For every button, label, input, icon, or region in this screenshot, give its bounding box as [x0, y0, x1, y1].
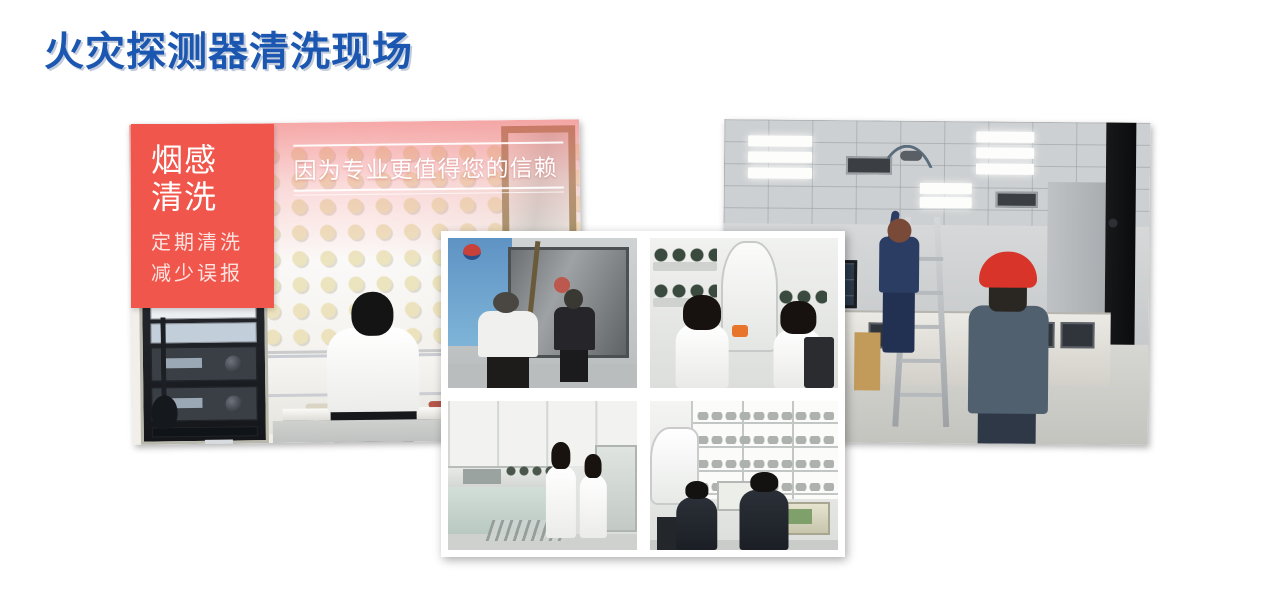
- collage-panel-q4: [650, 401, 839, 551]
- ladder-step: [900, 393, 942, 397]
- ceiling-light: [748, 135, 812, 147]
- orange-tool: [732, 325, 748, 337]
- console-screen: [1060, 322, 1094, 348]
- red-hard-hat: [979, 251, 1037, 288]
- worker-legs: [978, 409, 1036, 444]
- lab-technician: [676, 295, 729, 388]
- lab-coat: [580, 474, 606, 538]
- instrument-screen: [786, 509, 812, 524]
- person-head: [585, 454, 602, 477]
- ceiling-light: [748, 167, 812, 179]
- wall-logo-icon: [463, 244, 481, 260]
- collage-panel-q2: [650, 238, 839, 388]
- worker-legs: [882, 291, 915, 353]
- lab-technician: [580, 454, 606, 538]
- lab-chair: [804, 337, 834, 388]
- person-head: [751, 472, 778, 492]
- shelf-line: [693, 446, 838, 448]
- shelf-line: [693, 422, 838, 424]
- worker-with-hardhat: [966, 251, 1054, 444]
- work-uniform: [740, 490, 789, 550]
- ceiling-detector: [900, 151, 922, 161]
- inspector-foreground: [474, 292, 542, 388]
- rack-display: [205, 440, 233, 445]
- worker-head: [887, 219, 911, 243]
- rack-knob: [225, 355, 242, 372]
- person-head: [493, 292, 519, 313]
- work-uniform: [676, 497, 717, 550]
- lab-coat: [327, 327, 420, 412]
- lab-coat: [546, 465, 576, 538]
- person-head: [683, 295, 721, 330]
- person-head: [551, 442, 570, 469]
- ceiling-vent: [996, 192, 1038, 208]
- rack-test-bulb: [151, 395, 177, 429]
- photo-collage-card: [441, 231, 845, 557]
- badge-headline-line1: 烟感: [151, 142, 274, 179]
- ceiling-light: [748, 151, 812, 163]
- ladder-step: [900, 359, 942, 363]
- badge-subline-1: 定期清洗: [151, 228, 274, 257]
- person-shirt: [554, 307, 595, 350]
- person-legs: [487, 355, 529, 388]
- door-knob: [1108, 219, 1117, 228]
- banner-slogan-block: 因为专业更值得您的信赖: [293, 141, 564, 195]
- fume-hood: [721, 241, 778, 352]
- rack-knob: [225, 395, 242, 412]
- detector-row: [697, 460, 833, 468]
- collage-grid: [448, 238, 838, 550]
- person-head: [781, 301, 816, 334]
- promo-badge: 烟感 清洗 定期清洗 减少误报: [131, 124, 274, 308]
- collage-panel-q1: [448, 238, 637, 388]
- technician-seated: [676, 481, 717, 550]
- ceiling-light: [976, 147, 1034, 159]
- detector-row: [697, 436, 833, 444]
- person-shirt: [478, 311, 538, 357]
- detector-row: [653, 247, 717, 263]
- inspector-background: [554, 289, 595, 382]
- detector-tray: [653, 262, 717, 271]
- bench-sink: [463, 469, 501, 484]
- badge-headline-line2: 清洗: [151, 179, 274, 216]
- technician-seated: [740, 472, 789, 550]
- person-legs: [560, 348, 588, 381]
- page-title: 火灾探测器清洗现场: [44, 30, 413, 74]
- person-head: [351, 292, 394, 337]
- badge-subline-2: 减少误报: [151, 259, 274, 288]
- person-head: [685, 481, 708, 499]
- worker-torso: [968, 305, 1049, 414]
- worker-on-ladder: [872, 196, 927, 352]
- collage-panel-q3: [448, 401, 637, 551]
- ceiling-light: [976, 131, 1034, 143]
- person-head: [564, 289, 583, 309]
- detector-row: [697, 412, 833, 420]
- lab-technician: [546, 442, 576, 538]
- banner-slogan: 因为专业更值得您的信赖: [293, 143, 564, 189]
- ceiling-light: [976, 163, 1034, 175]
- worker-torso: [879, 237, 919, 293]
- lab-coat: [676, 324, 729, 387]
- shelf-line: [693, 470, 838, 472]
